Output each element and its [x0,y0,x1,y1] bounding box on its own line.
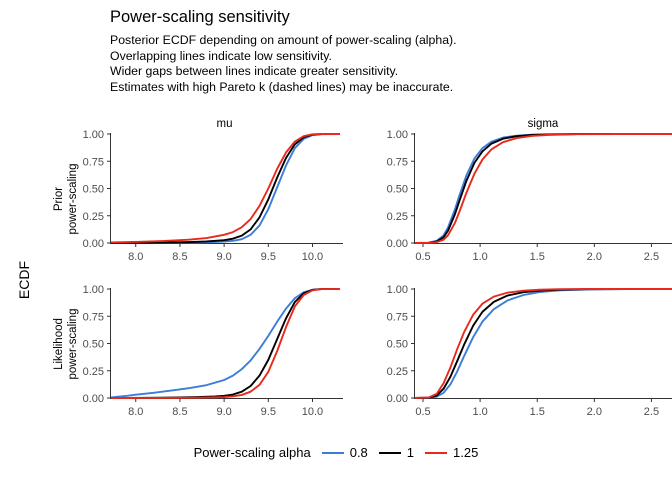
x-tick-label: 9.0 [216,406,231,418]
y-tick-label: 0.25 [83,366,104,378]
ecdf-line-alpha-1 [111,289,339,398]
strip-line-1: Prior [52,144,66,254]
x-tick-label: 2.0 [587,406,602,418]
strip-line-1: Likelihood [52,289,66,399]
x-tick-label: 8.5 [172,251,187,263]
legend-label: 0.8 [350,445,368,460]
ecdf-line-alpha-0.8 [111,134,339,243]
y-axis-sigma-likelihood: 0.000.250.500.751.00 [375,283,415,422]
y-tick-label: 0.25 [387,366,408,378]
y-tick-label: 0.50 [387,339,408,351]
y-tick-label: 0.75 [387,156,408,168]
x-tick-label: 1.5 [530,251,545,263]
legend-label: 1.25 [453,445,478,460]
x-tick-label: 10.0 [302,406,323,418]
ecdf-line-alpha-1 [415,289,672,398]
y-tick-label: 0.75 [83,156,104,168]
y-tick-label: 0.50 [387,184,408,196]
x-tick-label: 8.5 [172,406,187,418]
y-tick-label: 1.00 [387,284,408,296]
y-tick-label: 0.00 [387,393,408,405]
x-tick-label: 0.5 [415,251,430,263]
x-tick-label: 2.5 [644,406,659,418]
x-tick-label: 10.0 [302,251,323,263]
y-tick-label: 0.25 [83,211,104,223]
y-tick-label: 0.50 [83,184,104,196]
y-tick-label: 0.75 [83,311,104,323]
legend-item-0.8[interactable]: 0.8 [322,445,368,460]
subtitle-line: Wider gaps between lines indicate greate… [110,64,457,80]
y-tick-label: 0.00 [387,238,408,250]
x-tick-label: 2.0 [587,251,602,263]
x-tick-label: 8.0 [128,406,143,418]
y-tick-label: 0.00 [83,393,104,405]
legend-item-1.25[interactable]: 1.25 [425,445,478,460]
y-tick-label: 0.25 [387,211,408,223]
panel-sigma-prior: 0.51.01.52.02.5 [415,128,672,267]
y-axis-mu-prior: 0.000.250.500.751.00 [71,128,111,267]
legend-item-1[interactable]: 1 [379,445,414,460]
ecdf-line-alpha-0.8 [415,289,672,398]
ecdf-line-alpha-1.25 [111,289,339,398]
y-tick-label: 0.75 [387,311,408,323]
x-tick-label: 9.0 [216,251,231,263]
subtitle-line: Posterior ECDF depending on amount of po… [110,33,457,49]
ecdf-line-alpha-1.25 [415,134,672,243]
ecdf-line-alpha-1 [111,134,339,243]
y-axis-title: ECDF [16,250,32,310]
x-tick-label: 2.5 [644,251,659,263]
x-tick-label: 9.5 [261,251,276,263]
x-tick-label: 1.0 [472,406,487,418]
panel-mu-likelihood: 8.08.59.09.510.0 [111,283,343,422]
y-tick-label: 1.00 [83,284,104,296]
x-tick-label: 0.5 [415,406,430,418]
legend-key-line [425,452,447,454]
legend-key-line [322,452,344,454]
page-subtitle: Posterior ECDF depending on amount of po… [110,33,457,95]
legend-key-line [379,452,401,454]
x-tick-label: 1.0 [472,251,487,263]
x-tick-label: 9.5 [261,406,276,418]
panel-sigma-likelihood: 0.51.01.52.02.5 [415,283,672,422]
legend-label: 1 [407,445,414,460]
y-tick-label: 1.00 [83,129,104,141]
ecdf-line-alpha-1.25 [415,289,672,398]
y-tick-label: 0.00 [83,238,104,250]
y-tick-label: 1.00 [387,129,408,141]
subtitle-line: Overlapping lines indicate low sensitivi… [110,49,457,65]
x-tick-label: 1.5 [530,406,545,418]
x-tick-label: 8.0 [128,251,143,263]
ecdf-line-alpha-1.25 [111,134,339,242]
ecdf-line-alpha-0.8 [111,289,339,397]
y-axis-mu-likelihood: 0.000.250.500.751.00 [71,283,111,422]
subtitle-line: Estimates with high Pareto k (dashed lin… [110,80,457,96]
legend: Power-scaling alpha 0.811.25 [0,445,672,460]
y-tick-label: 0.50 [83,339,104,351]
panel-mu-prior: 8.08.59.09.510.0 [111,128,343,267]
page-title: Power-scaling sensitivity [110,8,290,27]
y-axis-sigma-prior: 0.000.250.500.751.00 [375,128,415,267]
legend-title: Power-scaling alpha [194,445,311,460]
